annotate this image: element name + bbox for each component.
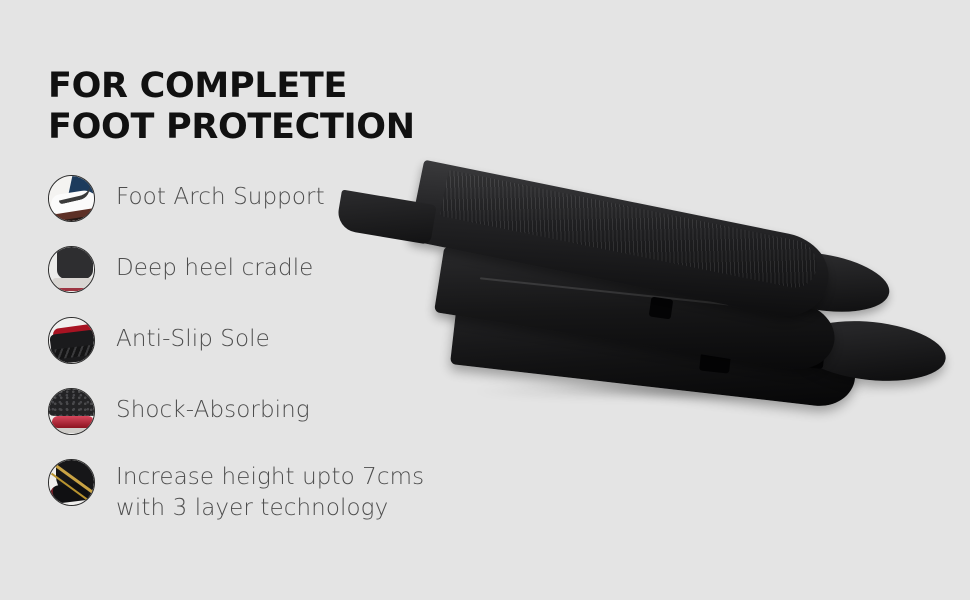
- feature-label: Anti-Slip Sole: [116, 316, 270, 355]
- feature-item-increase-height: Increase height upto 7cms with 3 layer t…: [48, 458, 478, 524]
- layer-connector-stud: [649, 297, 674, 320]
- headline-line-1: FOR COMPLETE: [48, 66, 478, 107]
- sneaker-icon: [49, 176, 94, 221]
- heel-cup-thumbnail: [48, 246, 95, 293]
- gel-cushion-icon: [49, 389, 94, 434]
- gold-lace-icon: [56, 465, 94, 494]
- product-feature-banner: FOR COMPLETE FOOT PROTECTION Foot Arch S…: [0, 0, 970, 600]
- page-title: FOR COMPLETE FOOT PROTECTION: [48, 66, 478, 148]
- feature-label: Increase height upto 7cms with 3 layer t…: [116, 458, 424, 524]
- tread-pattern-icon: [55, 344, 94, 359]
- product-image-insole: [398, 150, 958, 450]
- boot-icon: [49, 460, 94, 505]
- feature-label: Deep heel cradle: [116, 245, 313, 284]
- heel-cup-icon: [49, 247, 94, 292]
- feature-label: Shock-Absorbing: [116, 387, 310, 426]
- feature-label: Foot Arch Support: [116, 174, 325, 213]
- sneaker-arch-thumbnail: [48, 175, 95, 222]
- black-boot-thumbnail: [48, 459, 95, 506]
- sole-wedge-icon: [49, 318, 94, 363]
- anti-slip-sole-thumbnail: [48, 317, 95, 364]
- swoosh-stripe-icon: [57, 185, 92, 204]
- shock-absorbing-pad-thumbnail: [48, 388, 95, 435]
- headline-line-2: FOOT PROTECTION: [48, 107, 478, 148]
